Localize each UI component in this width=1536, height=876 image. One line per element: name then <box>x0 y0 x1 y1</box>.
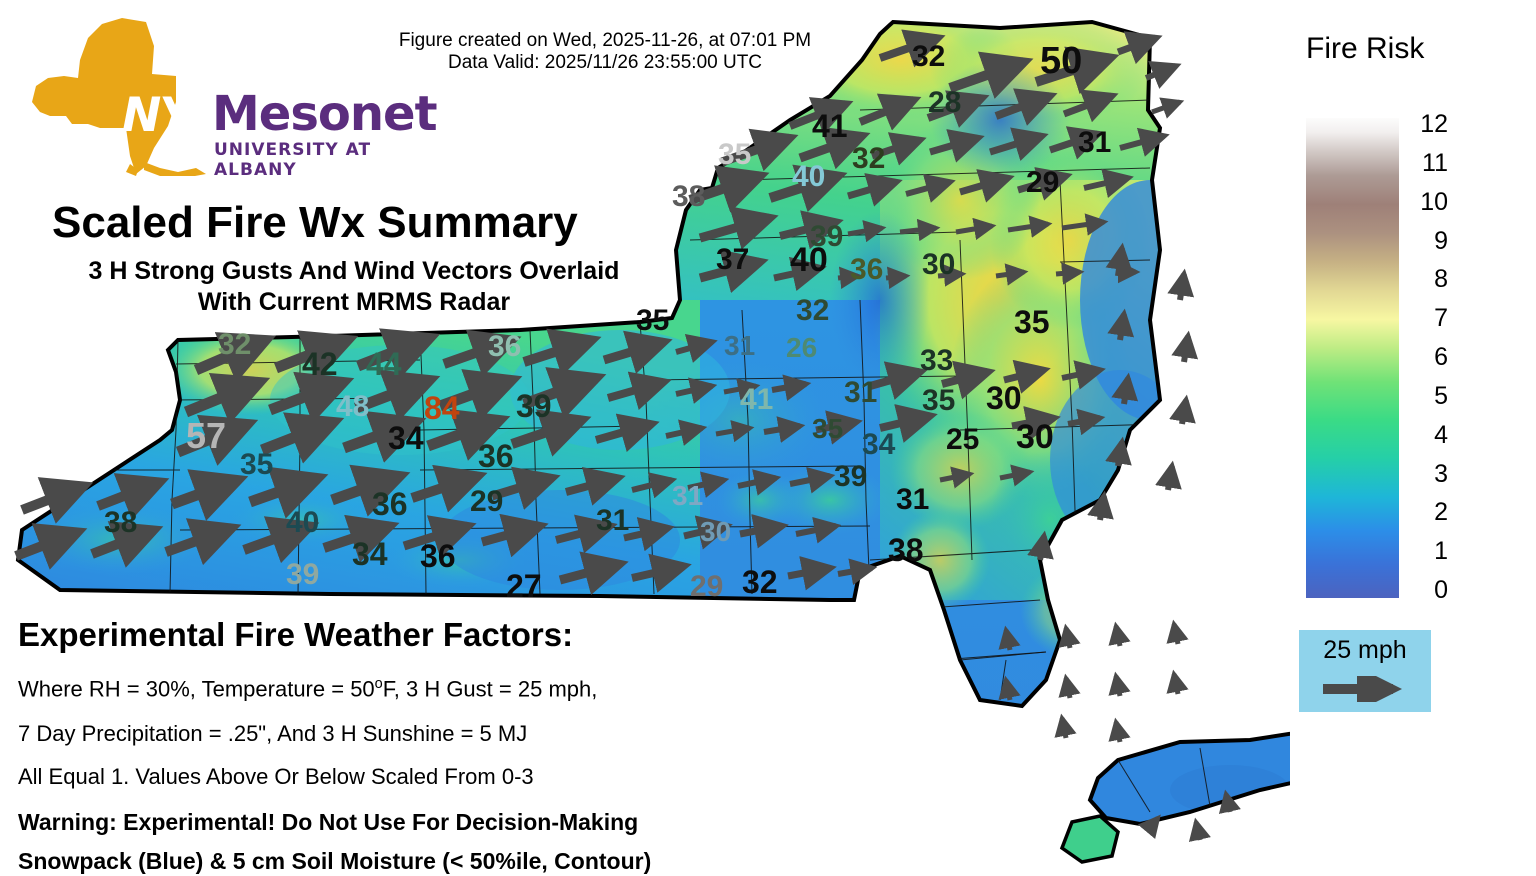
figure-created-text: Figure created on Wed, 2025-11-26, at 07… <box>360 30 850 52</box>
colorbar-tick-4: 4 <box>1434 421 1448 450</box>
colorbar-tick-0: 0 <box>1434 576 1448 605</box>
logo-university-text: UNIVERSITY AT ALBANY <box>214 140 386 180</box>
nys-mesonet-logo: NYS Mesonet UNIVERSITY AT ALBANY <box>26 16 386 176</box>
page-title: Scaled Fire Wx Summary <box>52 198 578 248</box>
colorbar-tick-3: 3 <box>1434 460 1448 489</box>
factor-line-1: Where RH = 30%, Temperature = 50oF, 3 H … <box>18 676 597 702</box>
wind-key-label: 25 mph <box>1299 636 1431 665</box>
wind-arrow-icon <box>1321 676 1411 702</box>
colorbar-tick-7: 7 <box>1434 304 1448 333</box>
colorbar-tick-labels: 1211109876543210 <box>1404 110 1460 606</box>
colorbar-tick-10: 10 <box>1420 188 1448 217</box>
wind-speed-key: 25 mph <box>1299 630 1431 712</box>
page-subtitle: 3 H Strong Gusts And Wind Vectors Overla… <box>46 256 662 317</box>
warning-line-2: Snowpack (Blue) & 5 cm Soil Moisture (< … <box>18 848 651 875</box>
colorbar-tick-6: 6 <box>1434 343 1448 372</box>
colorbar-tick-8: 8 <box>1434 265 1448 294</box>
warning-line-1: Warning: Experimental! Do Not Use For De… <box>18 809 638 836</box>
degree-symbol: o <box>375 676 383 692</box>
fire-risk-colorbar <box>1306 118 1399 598</box>
factor-line-1b: F, 3 H Gust = 25 mph, <box>383 676 598 701</box>
factor-line-1a: Where RH = 30%, Temperature = 50 <box>18 676 375 701</box>
colorbar-tick-11: 11 <box>1422 149 1448 178</box>
logo-nys-text: NYS <box>122 88 223 143</box>
colorbar-tick-12: 12 <box>1420 110 1448 139</box>
colorbar-tick-2: 2 <box>1434 498 1448 527</box>
colorbar-tick-5: 5 <box>1434 382 1448 411</box>
timestamp-block: Figure created on Wed, 2025-11-26, at 07… <box>360 30 850 75</box>
colorbar-tick-1: 1 <box>1434 537 1448 566</box>
factor-line-3: All Equal 1. Values Above Or Below Scale… <box>18 764 534 790</box>
colorbar-tick-9: 9 <box>1434 227 1448 256</box>
logo-mesonet-text: Mesonet <box>212 86 437 142</box>
factors-heading: Experimental Fire Weather Factors: <box>18 616 573 654</box>
subtitle-line-2: With Current MRMS Radar <box>46 287 662 318</box>
factor-line-2: 7 Day Precipitation = .25", And 3 H Suns… <box>18 721 527 747</box>
subtitle-line-1: 3 H Strong Gusts And Wind Vectors Overla… <box>46 256 662 287</box>
data-valid-text: Data Valid: 2025/11/26 23:55:00 UTC <box>360 52 850 74</box>
colorbar-title: Fire Risk <box>1306 32 1424 66</box>
fire-weather-map-page: 3250284131353229403839374036303235353242… <box>0 0 1536 876</box>
